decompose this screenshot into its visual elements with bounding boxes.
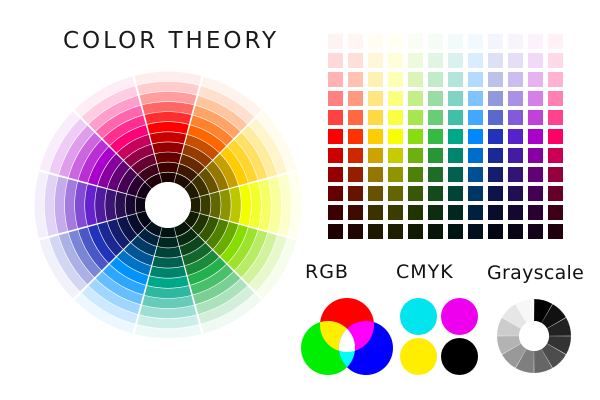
palette-swatch (548, 129, 563, 144)
palette-swatch (428, 167, 443, 182)
palette-swatch (528, 53, 543, 68)
grayscale-diagram (493, 296, 577, 376)
palette-swatch (528, 129, 543, 144)
palette-swatch (328, 91, 343, 106)
palette-swatch (528, 91, 543, 106)
palette-swatch (488, 186, 503, 201)
palette-swatch (528, 34, 543, 49)
color-wheel-hub (145, 182, 191, 228)
color-wheel-segment (155, 247, 181, 258)
color-wheel-segment (136, 197, 146, 213)
color-wheel-segment (157, 162, 178, 173)
color-wheel-segment (155, 152, 181, 163)
palette-swatch (448, 167, 463, 182)
palette-swatch (408, 224, 423, 239)
cmyk-label: CMYK (396, 261, 454, 283)
palette-swatch (528, 148, 543, 163)
palette-swatch (468, 129, 483, 144)
palette-swatch (528, 186, 543, 201)
palette-swatch (328, 72, 343, 87)
palette-swatch (508, 186, 523, 201)
palette-swatch (508, 167, 523, 182)
palette-swatch (428, 148, 443, 163)
color-wheel-segment (160, 173, 176, 183)
palette-swatch (488, 224, 503, 239)
palette-swatch (328, 224, 343, 239)
palette-swatch (548, 148, 563, 163)
palette-swatch (408, 34, 423, 49)
palette-swatch (448, 224, 463, 239)
palette-swatch (448, 72, 463, 87)
palette-swatch (328, 34, 343, 49)
palette-swatch (348, 186, 363, 201)
palette-swatch (328, 53, 343, 68)
palette-grid (328, 34, 564, 244)
palette-swatch (508, 91, 523, 106)
cmyk-dot-magenta (441, 298, 478, 335)
palette-swatch (508, 148, 523, 163)
palette-swatch (388, 205, 403, 220)
palette-swatch (508, 205, 523, 220)
palette-swatch (488, 53, 503, 68)
cmyk-dot-cyan (400, 298, 437, 335)
color-wheel-segment (220, 189, 231, 220)
palette-swatch (448, 186, 463, 201)
palette-swatch (528, 167, 543, 182)
color-wheel-segment (125, 194, 136, 215)
page-title: COLOR THEORY (46, 28, 296, 54)
palette-swatch (388, 72, 403, 87)
color-wheel-segment (147, 122, 189, 134)
palette-swatch (428, 205, 443, 220)
grayscale-ring-svg (493, 296, 577, 376)
palette-swatch (468, 186, 483, 201)
palette-swatch (348, 34, 363, 49)
palette-swatch (448, 91, 463, 106)
color-wheel-segment (95, 187, 107, 223)
palette-swatch (428, 110, 443, 125)
cmyk-dots (400, 298, 490, 375)
color-wheel-segment (85, 184, 97, 226)
palette-swatch (348, 167, 363, 182)
palette-swatch (488, 91, 503, 106)
palette-swatch (428, 91, 443, 106)
palette-swatch (388, 129, 403, 144)
color-wheel-segment (210, 192, 221, 218)
color-wheel-segment (200, 194, 211, 215)
palette-swatch (508, 72, 523, 87)
palette-swatch (408, 72, 423, 87)
palette-swatch (368, 205, 383, 220)
palette-grid-swatches (328, 34, 564, 239)
palette-swatch (468, 110, 483, 125)
palette-swatch (468, 91, 483, 106)
palette-swatch (408, 91, 423, 106)
palette-swatch (448, 148, 463, 163)
palette-swatch (428, 186, 443, 201)
palette-swatch (488, 167, 503, 182)
palette-swatch (448, 110, 463, 125)
palette-swatch (368, 167, 383, 182)
model-labels: RGB CMYK Grayscale (0, 261, 600, 285)
palette-swatch (548, 53, 563, 68)
palette-swatch (368, 72, 383, 87)
palette-swatch (328, 110, 343, 125)
grayscale-label: Grayscale (487, 262, 584, 284)
cmyk-diagram (400, 298, 490, 378)
palette-swatch (388, 91, 403, 106)
palette-swatch (488, 129, 503, 144)
palette-swatch (328, 167, 343, 182)
palette-swatch (368, 110, 383, 125)
rgb-label: RGB (305, 261, 349, 283)
color-wheel-segment (152, 142, 183, 153)
color-wheel-svg (33, 70, 303, 340)
palette-swatch (348, 129, 363, 144)
color-wheel-segment (157, 237, 178, 248)
palette-swatch (368, 148, 383, 163)
palette-swatch (448, 129, 463, 144)
palette-swatch (428, 129, 443, 144)
palette-swatch (428, 34, 443, 49)
palette-swatch (468, 34, 483, 49)
color-wheel-segment (239, 184, 251, 226)
palette-swatch (548, 34, 563, 49)
palette-swatch (488, 148, 503, 163)
color-wheel (33, 70, 303, 340)
palette-swatch (448, 53, 463, 68)
palette-swatch (388, 53, 403, 68)
palette-swatch (548, 205, 563, 220)
palette-swatch (348, 110, 363, 125)
palette-swatch (408, 129, 423, 144)
palette-swatch (468, 72, 483, 87)
palette-swatch (528, 205, 543, 220)
palette-swatch (468, 148, 483, 163)
palette-swatch (408, 53, 423, 68)
grayscale-ring-hub (519, 321, 549, 351)
palette-swatch (368, 129, 383, 144)
palette-swatch (408, 110, 423, 125)
palette-swatch (548, 186, 563, 201)
palette-swatch (508, 110, 523, 125)
color-wheel-segment (150, 132, 186, 144)
palette-swatch (348, 205, 363, 220)
palette-swatch (348, 148, 363, 163)
palette-swatch (388, 224, 403, 239)
palette-swatch (368, 186, 383, 201)
palette-swatch (448, 34, 463, 49)
color-wheel-segment (190, 197, 200, 213)
palette-swatch (428, 72, 443, 87)
cmyk-dot-key (441, 338, 478, 375)
palette-swatch (328, 186, 343, 201)
color-wheel-segment (160, 227, 176, 237)
palette-swatch (528, 72, 543, 87)
palette-swatch (488, 72, 503, 87)
palette-swatch (348, 224, 363, 239)
palette-swatch (348, 91, 363, 106)
palette-swatch (468, 53, 483, 68)
palette-swatch (328, 148, 343, 163)
palette-swatch (388, 186, 403, 201)
rgb-venn-svg (297, 296, 397, 376)
palette-swatch (408, 186, 423, 201)
palette-swatch (408, 167, 423, 182)
palette-swatch (508, 34, 523, 49)
palette-swatch (548, 167, 563, 182)
palette-swatch (508, 53, 523, 68)
palette-swatch (388, 148, 403, 163)
palette-swatch (348, 72, 363, 87)
palette-swatch (548, 91, 563, 106)
color-wheel-segment (115, 192, 126, 218)
rgb-venn-diagram (297, 296, 397, 376)
cmyk-dot-yellow (400, 338, 437, 375)
palette-swatch (388, 167, 403, 182)
color-wheel-segment (105, 189, 116, 220)
palette-swatch (508, 129, 523, 144)
palette-swatch (348, 53, 363, 68)
palette-swatch (488, 34, 503, 49)
palette-swatch (328, 129, 343, 144)
palette-swatch (528, 224, 543, 239)
palette-swatch (548, 110, 563, 125)
palette-swatch (388, 110, 403, 125)
palette-swatch (488, 205, 503, 220)
palette-swatch (368, 53, 383, 68)
palette-swatch (468, 205, 483, 220)
palette-swatch (468, 224, 483, 239)
palette-swatch (428, 53, 443, 68)
color-wheel-segment (229, 187, 241, 223)
palette-swatch (528, 110, 543, 125)
palette-swatch (548, 72, 563, 87)
palette-swatch (368, 91, 383, 106)
palette-swatch (468, 167, 483, 182)
color-theory-poster: COLOR THEORY RGB CMYK Grayscale (0, 0, 600, 400)
palette-swatch (368, 34, 383, 49)
palette-swatch (428, 224, 443, 239)
palette-swatch (328, 205, 343, 220)
palette-swatch (548, 224, 563, 239)
palette-swatch (368, 224, 383, 239)
palette-swatch (408, 205, 423, 220)
palette-swatch (408, 148, 423, 163)
palette-swatch (508, 224, 523, 239)
palette-swatch (388, 34, 403, 49)
palette-swatch (488, 110, 503, 125)
palette-swatch (448, 205, 463, 220)
